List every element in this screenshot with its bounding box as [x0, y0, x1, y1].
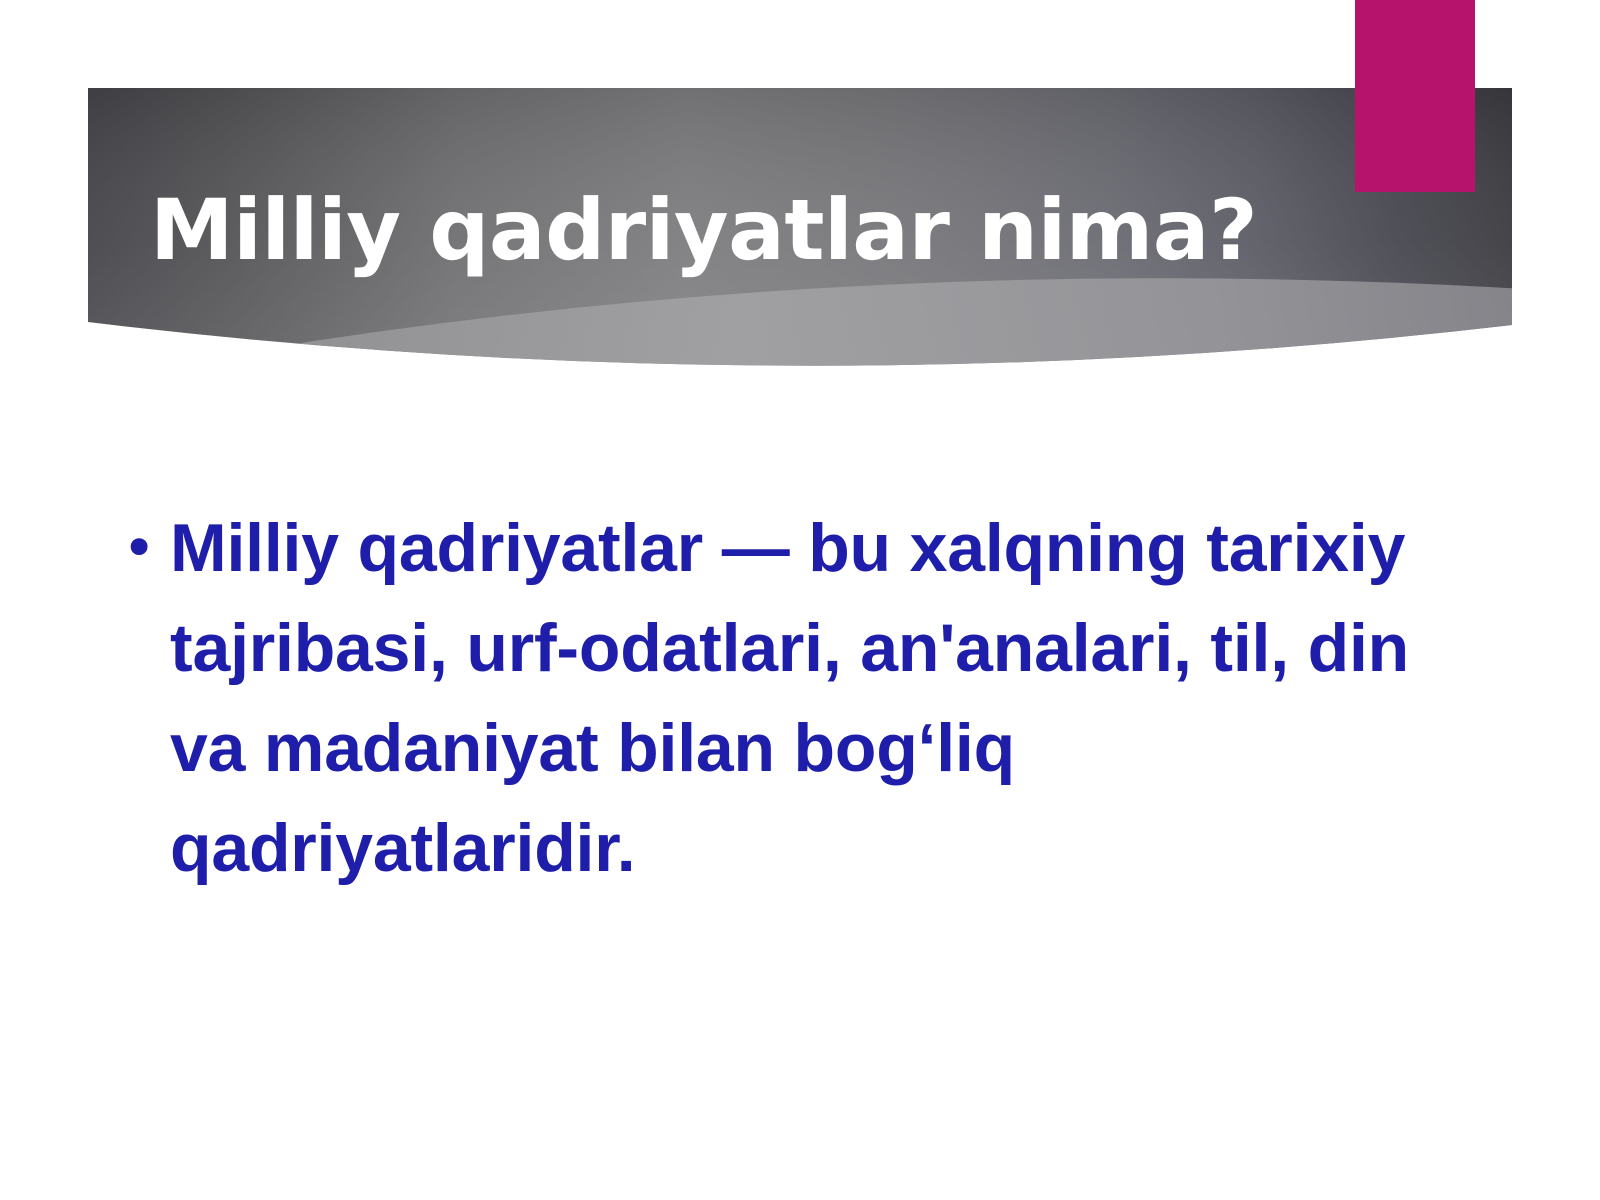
- bullet-point-icon: •: [108, 498, 170, 598]
- bullet-text: Milliy qadriyatlar — bu xalqning tarixiy…: [170, 498, 1460, 898]
- accent-rectangle: [1355, 0, 1475, 192]
- presentation-slide: Milliy qadriyatlar nima? • Milliy qadriy…: [0, 0, 1600, 1200]
- list-item: • Milliy qadriyatlar — bu xalqning tarix…: [108, 498, 1508, 898]
- slide-body: • Milliy qadriyatlar — bu xalqning tarix…: [108, 498, 1508, 898]
- slide-title: Milliy qadriyatlar nima?: [150, 178, 1490, 288]
